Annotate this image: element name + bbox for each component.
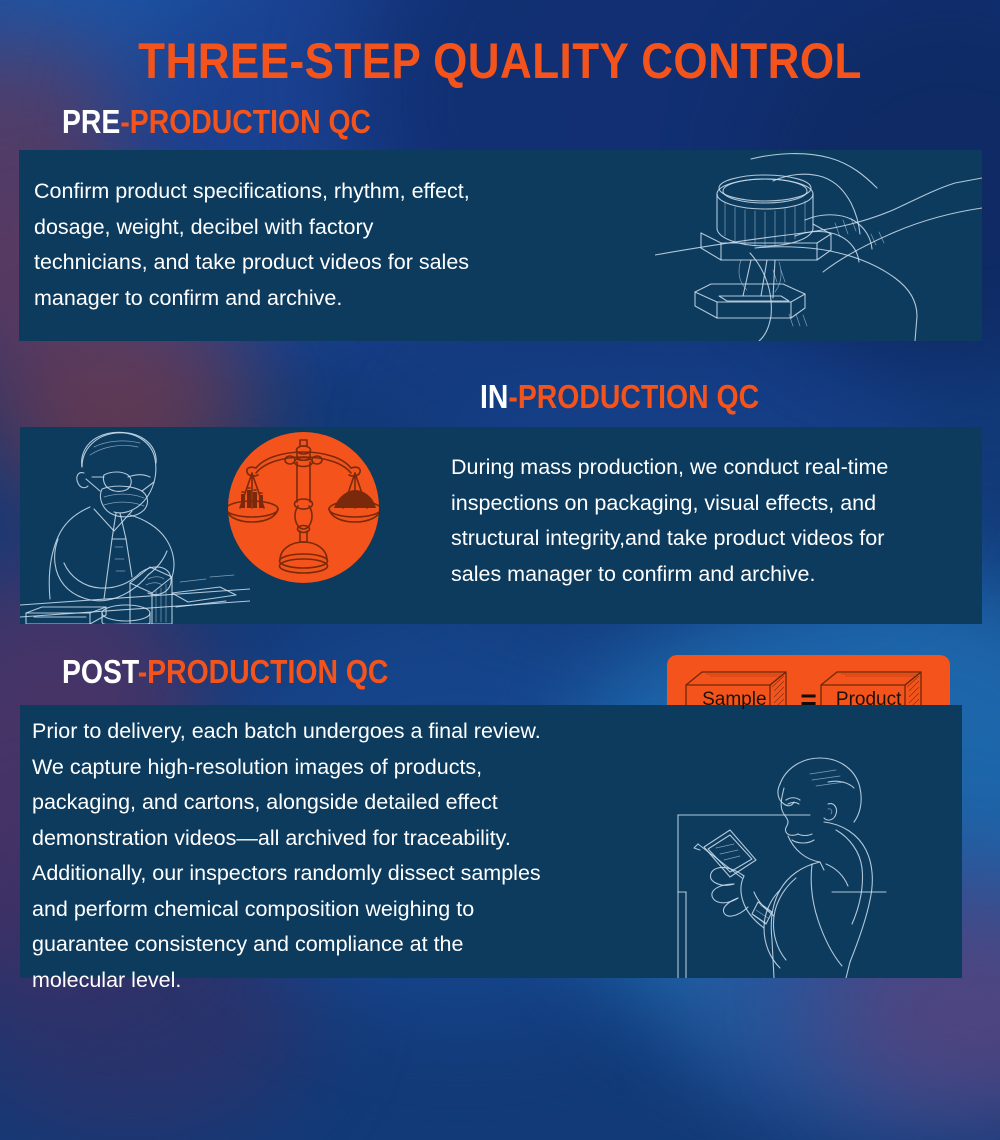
heading-suffix: -PRODUCTION QC (508, 378, 759, 415)
section-heading-post-production: POST-PRODUCTION QC (62, 653, 388, 691)
heading-suffix: -PRODUCTION QC (138, 653, 389, 690)
balance-scale-icon (228, 432, 379, 583)
heading-prefix: POST (62, 653, 138, 690)
product-box-label: Product (823, 689, 915, 711)
sample-box-label: Sample (688, 689, 780, 711)
page-title: THREE-STEP QUALITY CONTROL (60, 32, 940, 90)
heading-suffix: -PRODUCTION QC (120, 103, 371, 140)
body-text-pre-production: Confirm product specifications, rhythm, … (34, 174, 634, 316)
hand-holding-device-icon (655, 150, 982, 341)
section-heading-pre-production: PRE-PRODUCTION QC (62, 103, 371, 141)
inspector-at-workbench-icon (20, 427, 250, 624)
body-text-in-production: During mass production, we conduct real-… (451, 450, 981, 592)
equals-sign: = (800, 684, 816, 716)
heading-prefix: PRE (62, 103, 120, 140)
man-with-tablet-icon (660, 752, 962, 978)
heading-prefix: IN (480, 378, 508, 415)
section-heading-in-production: IN-PRODUCTION QC (480, 378, 759, 416)
body-text-post-production: Prior to delivery, each batch undergoes … (32, 714, 652, 998)
